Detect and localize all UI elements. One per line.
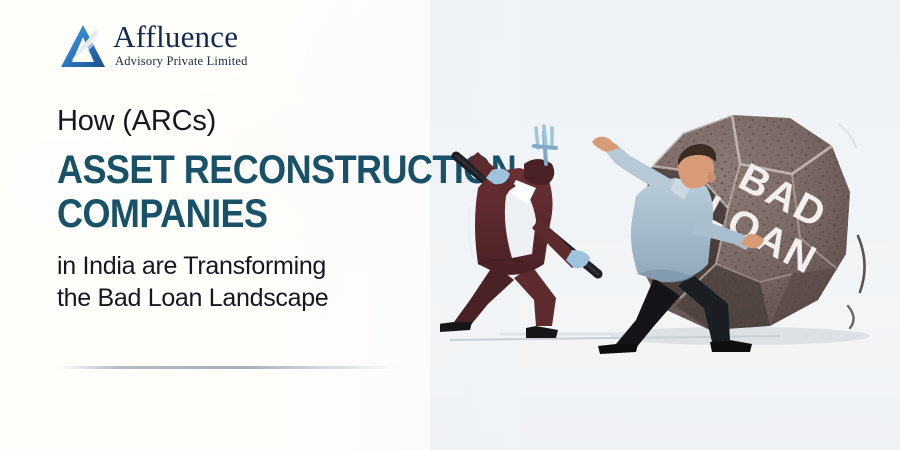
headline-subtitle-line-2: the Bad Loan Landscape: [57, 282, 477, 314]
motion-arc-2: [848, 306, 854, 328]
shoe-back: [598, 344, 638, 354]
logo-wordmark: Affluence Advisory Private Limited: [113, 20, 248, 68]
fork-tool: [534, 126, 556, 164]
headline-title: ASSET RECONSTRUCTION COMPANIES: [57, 148, 435, 236]
headline-subtitle: in India are Transforming the Bad Loan L…: [57, 250, 477, 314]
company-logo: Affluence Advisory Private Limited: [57, 20, 248, 72]
logo-company-name: Affluence: [113, 21, 248, 53]
banner-root: Affluence Advisory Private Limited How (…: [0, 0, 900, 450]
headline-kicker: How (ARCs): [57, 104, 477, 138]
headline-title-line-2: COMPANIES: [57, 192, 435, 236]
head-back: [524, 159, 554, 185]
headline-title-line-1: ASSET RECONSTRUCTION: [57, 148, 435, 192]
headline-divider: [57, 366, 397, 369]
headline-block: How (ARCs) ASSET RECONSTRUCTION COMPANIE…: [57, 104, 477, 314]
affluence-triangle-mark-icon: [57, 20, 109, 72]
headline-subtitle-line-1: in India are Transforming: [57, 250, 477, 282]
illustration-two-men-pushing-boulder: BAD LOAN: [440, 68, 900, 368]
logo-tagline: Advisory Private Limited: [115, 54, 248, 68]
figure-man-with-crowbar: [440, 126, 598, 338]
motion-arc-1: [858, 236, 865, 292]
